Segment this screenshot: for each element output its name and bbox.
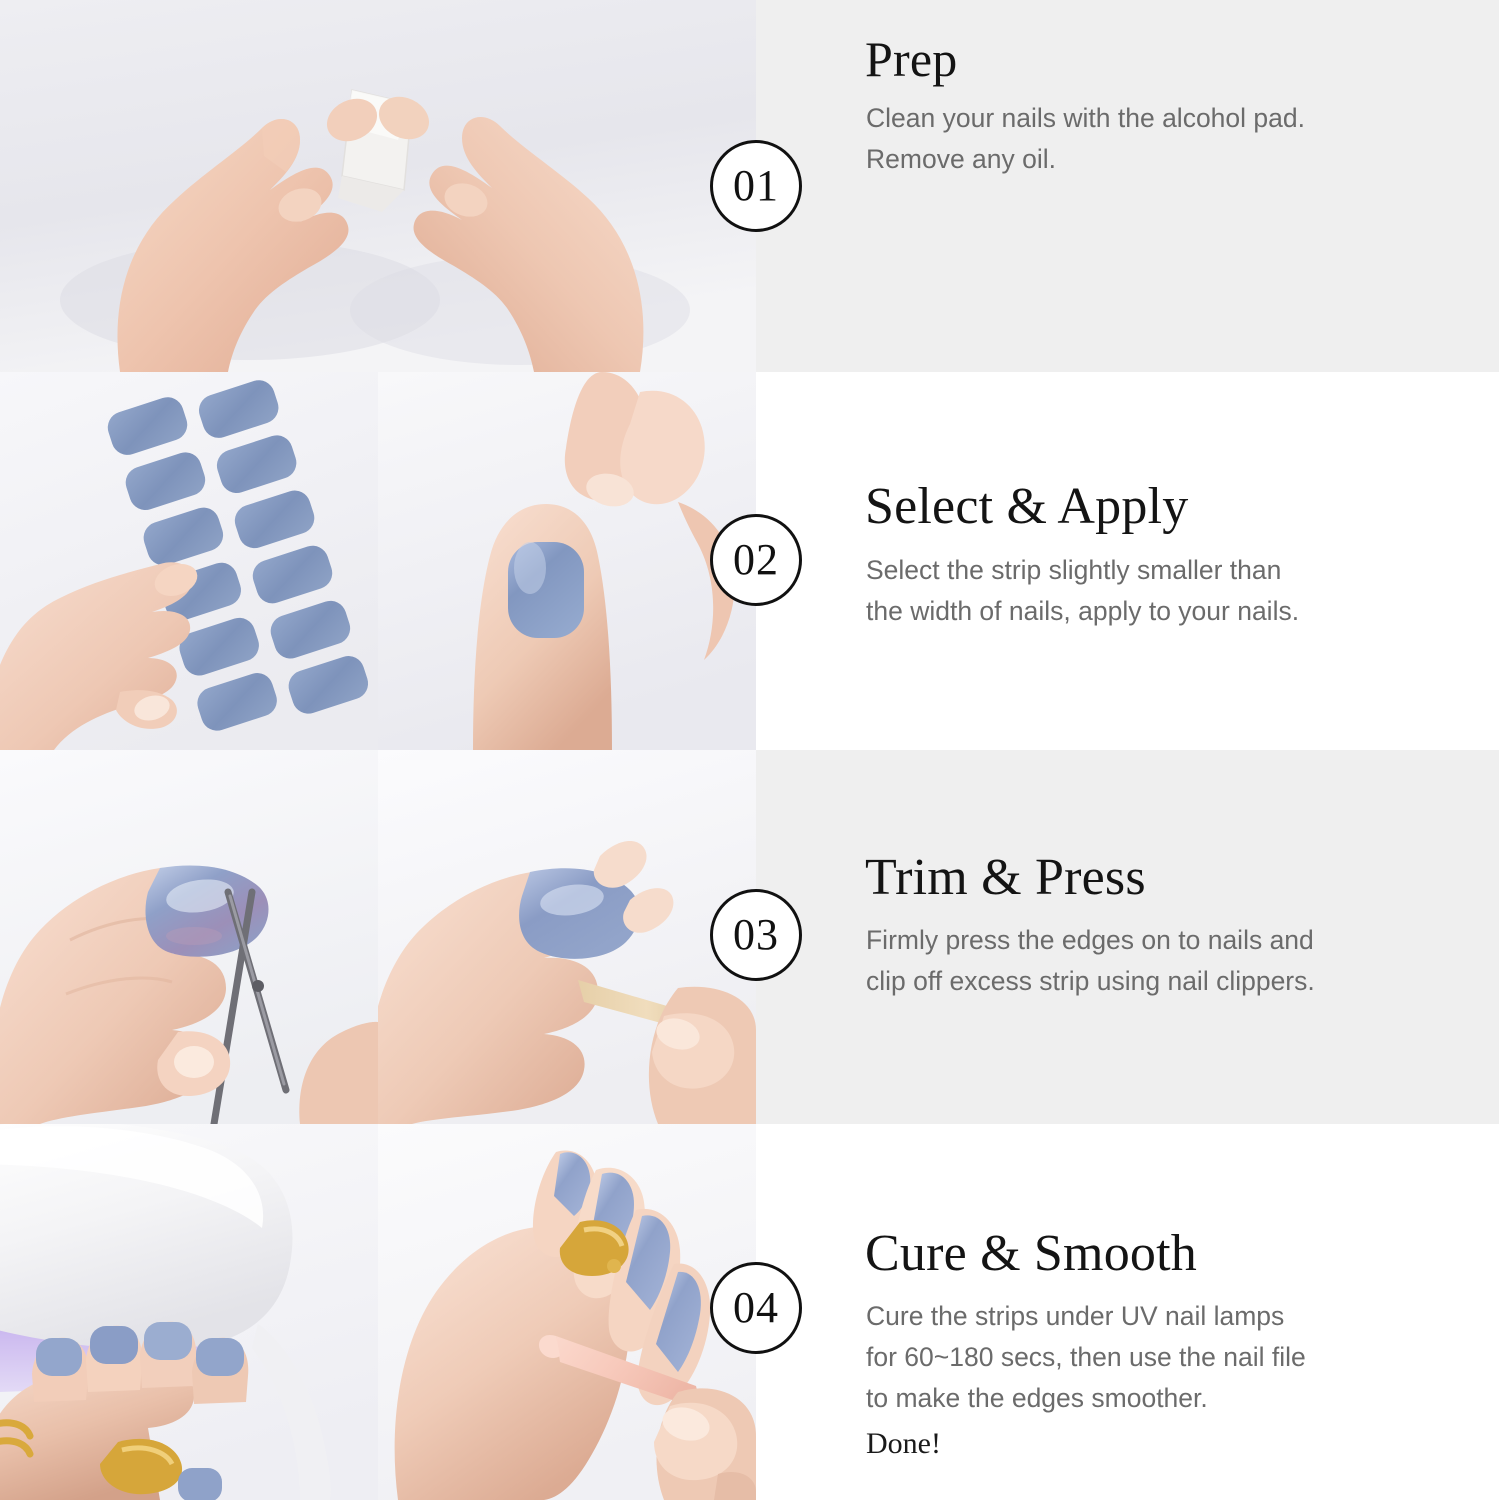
step-3-title: Trim & Press [865, 848, 1146, 907]
step-number-1: 01 [733, 164, 779, 208]
step-number-badge-2: 02 [710, 514, 802, 606]
step-2-photos [0, 372, 756, 750]
step-4-title: Cure & Smooth [865, 1224, 1197, 1283]
step-number-3: 03 [733, 913, 779, 957]
step-3-body: Firmly press the edges on to nails and c… [866, 920, 1315, 1002]
photo-applying-strip-to-thumb-nail [378, 372, 756, 750]
step-4-body: Cure the strips under UV nail lamps for … [866, 1296, 1306, 1419]
step-2-body: Select the strip slightly smaller than t… [866, 550, 1299, 632]
step-number-badge-1: 01 [710, 140, 802, 232]
photo-trimming-strip-with-scissors [0, 750, 378, 1124]
photo-filing-nail-edges-with-nail-file [378, 1124, 756, 1500]
step-3-text: Trim & Press Firmly press the edges on t… [756, 750, 1499, 1124]
step-1-title: Prep [865, 30, 957, 88]
step-1-text: Prep Clean your nails with the alcohol p… [756, 0, 1499, 372]
photo-hand-holding-nail-strip-sheet [0, 372, 378, 750]
photo-pressing-edges-with-wood-stick [378, 750, 756, 1124]
step-number-badge-3: 03 [710, 889, 802, 981]
instruction-infographic: Prep Clean your nails with the alcohol p… [0, 0, 1499, 1500]
step-4-text: Cure & Smooth Cure the strips under UV n… [756, 1124, 1499, 1500]
step-1-photos [0, 0, 756, 372]
step-1-body: Clean your nails with the alcohol pad. R… [866, 98, 1305, 180]
step-3-photos [0, 750, 756, 1124]
step-2-text: Select & Apply Select the strip slightly… [756, 372, 1499, 750]
step-4-photos [0, 1124, 756, 1500]
step-4-done-label: Done! [866, 1427, 941, 1461]
photo-hand-under-uv-lamp [0, 1124, 378, 1500]
photo-hands-holding-alcohol-pad [0, 0, 756, 372]
step-number-2: 02 [733, 538, 779, 582]
step-2-title: Select & Apply [865, 477, 1188, 536]
step-number-badge-4: 04 [710, 1262, 802, 1354]
step-number-4: 04 [733, 1286, 779, 1330]
